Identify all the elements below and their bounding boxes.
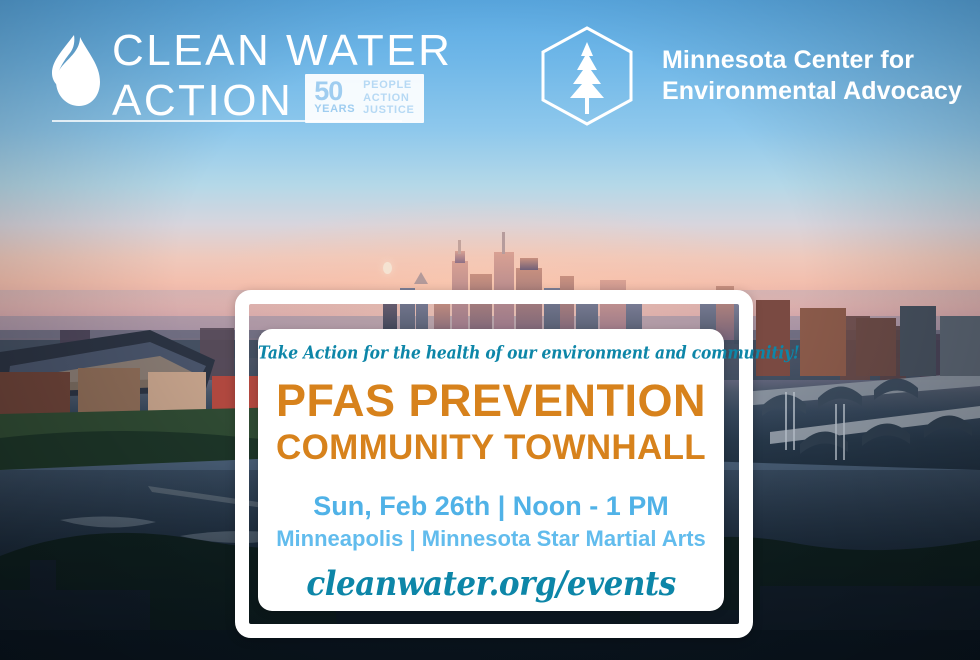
- mcea-logo: Minnesota Center for Environmental Advoc…: [532, 24, 962, 128]
- cwa-line2: ACTION: [112, 78, 293, 124]
- badge-years: YEARS: [314, 103, 355, 115]
- badge-number: 50: [314, 80, 355, 103]
- clean-water-action-wordmark: CLEAN WATER ACTION 50 YEARS PEOPLE ACTIO…: [112, 28, 452, 124]
- event-headline-line1: PFAS PREVENTION: [258, 376, 724, 426]
- clean-water-action-logo: CLEAN WATER ACTION 50 YEARS PEOPLE ACTIO…: [50, 28, 452, 124]
- badge-value-action: ACTION: [363, 92, 414, 105]
- header: CLEAN WATER ACTION 50 YEARS PEOPLE ACTIO…: [0, 0, 980, 140]
- event-card: Take Action for the health of our enviro…: [258, 329, 724, 611]
- event-date-time: Sun, Feb 26th | Noon - 1 PM: [258, 490, 724, 522]
- pine-tree-hexagon-icon: [532, 24, 642, 128]
- mcea-line2: Environmental Advocacy: [662, 76, 962, 107]
- event-location: Minneapolis | Minnesota Star Martial Art…: [258, 525, 724, 553]
- fifty-years-badge: 50 YEARS PEOPLE ACTION JUSTICE: [305, 74, 423, 123]
- event-url[interactable]: cleanwater.org/events: [258, 565, 724, 604]
- event-headline-line2: COMMUNITY TOWNHALL: [258, 428, 724, 468]
- cwa-line1: CLEAN WATER: [112, 28, 452, 74]
- logo-divider-rule: [52, 120, 402, 122]
- mcea-wordmark: Minnesota Center for Environmental Advoc…: [662, 45, 962, 107]
- water-drop-icon: [50, 31, 102, 109]
- badge-values: PEOPLE ACTION JUSTICE: [363, 79, 414, 117]
- mcea-line1: Minnesota Center for: [662, 45, 962, 76]
- badge-value-people: PEOPLE: [363, 79, 414, 92]
- badge-value-justice: JUSTICE: [363, 104, 414, 117]
- event-flyer: CLEAN WATER ACTION 50 YEARS PEOPLE ACTIO…: [0, 0, 980, 660]
- event-tagline: Take Action for the health of our enviro…: [258, 342, 724, 363]
